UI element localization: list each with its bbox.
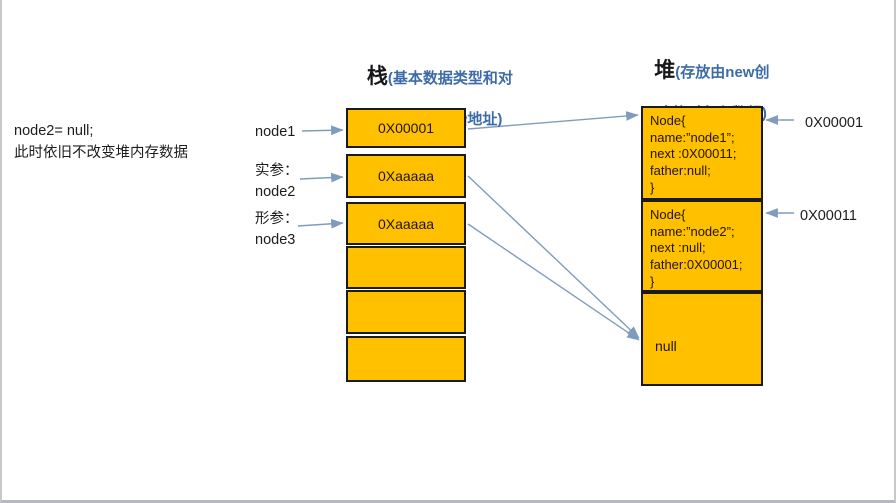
- stack-cell-1[interactable]: 0Xaaaaa: [346, 154, 466, 198]
- arrow-node3-to-stack: [298, 223, 343, 226]
- heap-title-main: 堆: [654, 59, 675, 82]
- stack-label-node3: 形参： node3: [255, 209, 299, 251]
- stack-cell-0-value: 0X00001: [378, 120, 434, 136]
- stack-cell-2-value: 0Xaaaaa: [378, 216, 434, 232]
- stack-cell-1-value: 0Xaaaaa: [378, 168, 434, 184]
- heap-cell-null-value: null: [655, 338, 677, 356]
- arrow-stack3-to-heap-null: [468, 224, 639, 340]
- stack-cell-5[interactable]: [346, 336, 466, 382]
- diagram-canvas: 栈(基本数据类型和对 象的物理起始地址) 堆(存放由new创 建的对象和数组) …: [0, 0, 896, 503]
- note-line-1: node2= null;: [14, 120, 93, 142]
- heap-cell-node1[interactable]: Node{ name:”node1”; next :0X00011; fathe…: [641, 106, 763, 200]
- stack-cell-4[interactable]: [346, 290, 466, 334]
- stack-title-sub1: (基本数据类型和对: [388, 70, 513, 87]
- heap-cell-null[interactable]: null: [641, 292, 763, 386]
- stack-title-main: 栈: [367, 65, 388, 88]
- note-line-2: 此时依旧不改变堆内存数据: [14, 142, 188, 164]
- heap-title-sub1: (存放由new创: [675, 64, 769, 81]
- stack-cell-0[interactable]: 0X00001: [346, 108, 466, 148]
- stack-cell-2[interactable]: 0Xaaaaa: [346, 202, 466, 245]
- heap-address-label-1: 0X00011: [800, 206, 857, 227]
- stack-label-node1: node1: [255, 122, 295, 143]
- heap-cell-node2[interactable]: Node{ name:”node2”; next :null; father:0…: [641, 200, 763, 292]
- heap-address-label-0: 0X00001: [805, 113, 863, 134]
- stack-label-node2: 实参： node2: [255, 161, 299, 203]
- arrow-node2-to-stack: [300, 177, 343, 179]
- arrow-stack2-to-heap-null: [468, 176, 639, 338]
- heap-cell-node2-value: Node{ name:”node2”; next :null; father:0…: [650, 207, 761, 290]
- heap-cell-node1-value: Node{ name:”node1”; next :0X00011; fathe…: [650, 113, 761, 196]
- stack-cell-3[interactable]: [346, 246, 466, 289]
